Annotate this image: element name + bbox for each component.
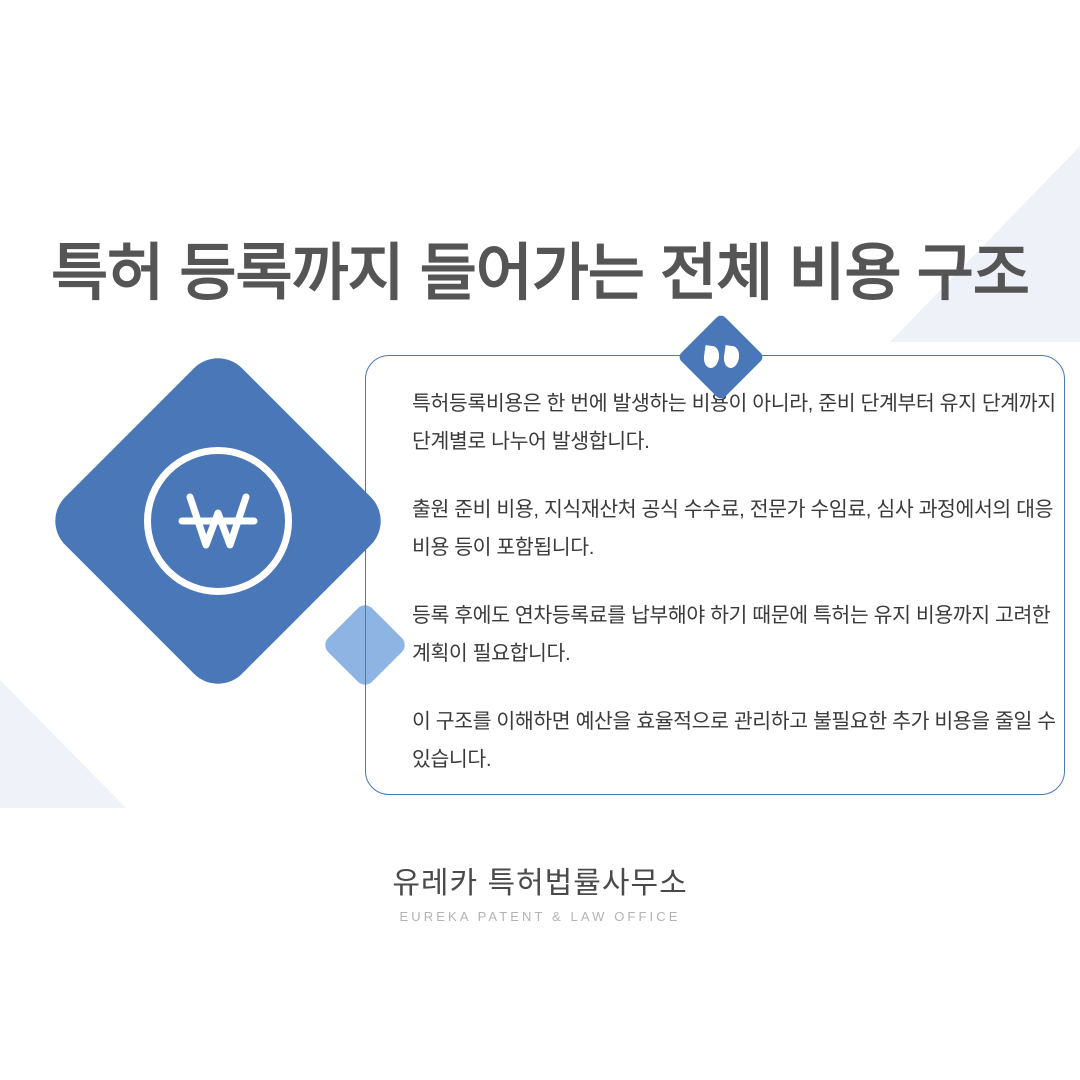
page-title: 특허 등록까지 들어가는 전체 비용 구조 xyxy=(0,222,1080,312)
quote-mark-left-icon xyxy=(702,345,720,369)
footer-name-korean: 유레카 특허법률사무소 xyxy=(0,858,1080,902)
quote-mark-icon xyxy=(690,326,752,388)
quote-mark-right-icon xyxy=(722,345,740,369)
won-diamond-badge xyxy=(58,361,378,681)
won-currency-icon xyxy=(144,447,292,595)
footer-logo: 유레카 특허법률사무소 EUREKA PATENT & LAW OFFICE xyxy=(0,858,1080,924)
body-paragraph-3: 등록 후에도 연차등록료를 납부해야 하기 때문에 특허는 유지 비용까지 고려… xyxy=(412,597,1062,673)
decorative-triangle-bottom-left xyxy=(0,680,126,808)
body-paragraph-4: 이 구조를 이해하면 예산을 효율적으로 관리하고 불필요한 추가 비용을 줄일… xyxy=(412,703,1062,779)
quote-mark-badge xyxy=(677,313,765,401)
body-text: 특허등록비용은 한 번에 발생하는 비용이 아니라, 준비 단계부터 유지 단계… xyxy=(412,385,1062,779)
body-paragraph-2: 출원 준비 비용, 지식재산처 공식 수수료, 전문가 수임료, 심사 과정에서… xyxy=(412,491,1062,567)
body-paragraph-1: 특허등록비용은 한 번에 발생하는 비용이 아니라, 준비 단계부터 유지 단계… xyxy=(412,385,1062,461)
footer-name-english: EUREKA PATENT & LAW OFFICE xyxy=(0,909,1080,924)
infographic-canvas: 특허 등록까지 들어가는 전체 비용 구조 특허등록비용은 한 번에 발생하는 … xyxy=(0,0,1080,1080)
